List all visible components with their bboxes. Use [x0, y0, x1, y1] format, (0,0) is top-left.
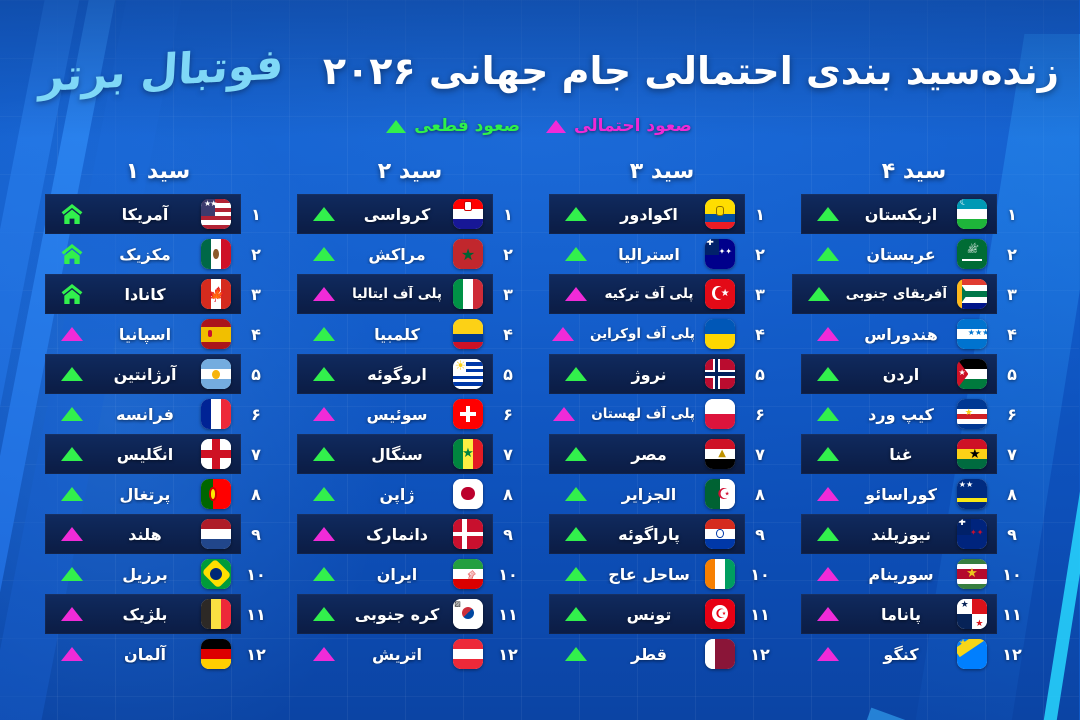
flag-icon: ★ [958, 439, 988, 469]
status-badge [812, 567, 846, 581]
table-row[interactable]: ۵آرژانتین [46, 354, 272, 394]
table-row[interactable]: ۹پاراگوئه [550, 514, 776, 554]
team-band[interactable]: ☪تونس [550, 594, 746, 634]
table-row[interactable]: ۵☀اروگوئه [298, 354, 524, 394]
table-row[interactable]: ۷★غنا [802, 434, 1028, 474]
team-name: اسپانیا [100, 325, 192, 344]
green-triangle-icon [566, 567, 588, 581]
status-badge [308, 527, 342, 541]
flag-icon [454, 399, 484, 429]
status-badge [308, 327, 342, 341]
team-name: تونس [604, 605, 696, 624]
rank-number: ۳ [242, 285, 272, 304]
team-band[interactable]: ★★پاناما [802, 594, 998, 634]
team-name: ازبکستان [856, 205, 948, 224]
flag-icon [958, 279, 988, 309]
team-band[interactable]: پاراگوئه [550, 514, 746, 554]
pot-title: سید ۳ [550, 150, 776, 194]
team-name: کره جنوبی [352, 605, 444, 624]
team-name: کیپ ورد [856, 405, 948, 424]
team-band[interactable]: قطر [550, 634, 746, 674]
team-band[interactable]: مکزیک [46, 234, 242, 274]
table-row[interactable]: ۳پلی آف ایتالیا [298, 274, 524, 314]
table-row[interactable]: ۶فرانسه [46, 394, 272, 434]
table-row[interactable]: ۲مکزیک [46, 234, 272, 274]
team-band[interactable]: ﷺعربستان [802, 234, 998, 274]
pot-column: سید ۴۱☾ازبکستان۲ﷺعربستان۳آفریقای جنوبی۴★… [802, 150, 1028, 720]
team-name: فرانسه [100, 405, 192, 424]
green-triangle-icon [314, 487, 336, 501]
green-triangle-icon [566, 607, 588, 621]
team-band[interactable]: فرانسه [46, 394, 242, 434]
team-band[interactable]: ★سورینام [802, 554, 998, 594]
green-triangle-icon [818, 207, 840, 221]
rank-number: ۸ [746, 485, 776, 504]
team-band[interactable]: ★کیپ ورد [802, 394, 998, 434]
table-row[interactable]: ۹✚✦✦نیوزیلند [802, 514, 1028, 554]
table-row[interactable]: ۱۰★سورینام [802, 554, 1028, 594]
team-name: پرتغال [100, 485, 192, 504]
pink-triangle-icon [62, 647, 84, 661]
flag-icon: ﷺ [958, 239, 988, 269]
team-band[interactable]: ☀اروگوئه [298, 354, 494, 394]
rank-number: ۵ [242, 365, 272, 384]
green-triangle-icon [818, 367, 840, 381]
table-row[interactable]: ۱۲★کنگو [802, 634, 1028, 674]
table-row[interactable]: ۳🍁کانادا [46, 274, 272, 314]
team-band[interactable]: آرژانتین [46, 354, 242, 394]
team-name: انگلیس [100, 445, 192, 464]
team-band[interactable]: کلمبیا [298, 314, 494, 354]
table-row[interactable]: ۵★اردن [802, 354, 1028, 394]
pink-triangle-icon [314, 407, 336, 421]
flag-icon: ☪ [706, 479, 736, 509]
status-badge [560, 447, 594, 461]
team-band[interactable]: هلند [46, 514, 242, 554]
status-badge [560, 647, 594, 661]
team-name: ژاپن [352, 485, 444, 504]
status-badge [560, 287, 594, 301]
table-row[interactable]: ۹هلند [46, 514, 272, 554]
green-triangle-icon [566, 527, 588, 541]
team-name: برزیل [100, 565, 192, 584]
team-name: اکوادور [604, 205, 696, 224]
rank-number: ۱۱ [746, 605, 776, 624]
rank-number: ۴ [242, 325, 272, 344]
flag-icon [454, 199, 484, 229]
rank-number: ۱۰ [746, 565, 776, 584]
team-band[interactable]: نروژ [550, 354, 746, 394]
table-row[interactable]: ۸پرتغال [46, 474, 272, 514]
pot-rows: ۱☾ازبکستان۲ﷺعربستان۳آفریقای جنوبی۴★★★هند… [802, 194, 1028, 674]
team-band[interactable]: کرواسی [298, 194, 494, 234]
status-badge [308, 567, 342, 581]
team-name: پاراگوئه [604, 525, 696, 544]
rank-number: ۳ [998, 285, 1028, 304]
table-row[interactable]: ۶پلی آف لهستان [550, 394, 776, 434]
pot-rows: ۱اکوادور۲✚✦✦استرالیا۳★پلی آف ترکیه۴پلی آ… [550, 194, 776, 674]
table-row[interactable]: ۳★پلی آف ترکیه [550, 274, 776, 314]
table-row[interactable]: ۶سوئیس [298, 394, 524, 434]
table-row[interactable]: ۹دانمارک [298, 514, 524, 554]
team-band[interactable]: ساحل عاج [550, 554, 746, 594]
legend-label-qualified: صعود قطعی [415, 116, 521, 136]
pink-triangle-icon [818, 647, 840, 661]
flag-icon [202, 479, 232, 509]
pink-triangle-icon [314, 287, 336, 301]
status-badge [803, 287, 837, 301]
status-badge [56, 607, 90, 621]
team-band[interactable]: پلی آف ایتالیا [298, 274, 494, 314]
team-band[interactable]: ▲مصر [550, 434, 746, 474]
rank-number: ۱۰ [242, 565, 272, 584]
flag-icon: ★ [958, 359, 988, 389]
table-row[interactable]: ۱۰ساحل عاج [550, 554, 776, 594]
rank-number: ۵ [746, 365, 776, 384]
green-triangle-icon [62, 407, 84, 421]
team-name: کانادا [100, 285, 192, 304]
pink-triangle-icon [818, 487, 840, 501]
team-name: اروگوئه [352, 365, 444, 384]
team-band[interactable]: ★مراکش [298, 234, 494, 274]
status-badge [812, 327, 846, 341]
home-icon [60, 202, 86, 226]
green-triangle-icon [62, 367, 84, 381]
rank-number: ۹ [998, 525, 1028, 544]
rank-number: ۱۱ [494, 605, 524, 624]
green-triangle-icon [566, 647, 588, 661]
status-badge [308, 487, 342, 501]
table-row[interactable]: ۸☪الجزایر [550, 474, 776, 514]
home-icon [60, 242, 86, 266]
flag-icon: ★★ [958, 479, 988, 509]
table-row[interactable]: ۲ﷺعربستان [802, 234, 1028, 274]
team-band[interactable]: ★★★هندوراس [802, 314, 998, 354]
rank-number: ۱ [746, 205, 776, 224]
rank-number: ۱ [494, 205, 524, 224]
green-triangle-icon [314, 367, 336, 381]
flag-icon [706, 519, 736, 549]
team-name: هندوراس [856, 325, 948, 344]
pot-column: سید ۲۱کرواسی۲★مراکش۳پلی آف ایتالیا۴کلمبی… [298, 150, 524, 720]
team-name: پلی آف ایتالیا [352, 286, 444, 302]
team-name: کوراسائو [856, 485, 948, 504]
team-band[interactable]: ۩ایران [298, 554, 494, 594]
team-band[interactable]: برزیل [46, 554, 242, 594]
status-badge [547, 327, 581, 341]
rank-number: ۲ [494, 245, 524, 264]
status-badge [56, 327, 90, 341]
table-row[interactable]: ۱۱بلژیک [46, 594, 272, 634]
rank-number: ۸ [998, 485, 1028, 504]
pots-container: سید ۴۱☾ازبکستان۲ﷺعربستان۳آفریقای جنوبی۴★… [0, 150, 1080, 720]
pink-triangle-icon [818, 607, 840, 621]
status-badge [812, 487, 846, 501]
flag-icon [202, 319, 232, 349]
team-name: آلمان [100, 645, 192, 664]
flag-icon [454, 519, 484, 549]
table-row[interactable]: ۴اسپانیا [46, 314, 272, 354]
flag-icon [706, 319, 736, 349]
table-row[interactable]: ۴کلمبیا [298, 314, 524, 354]
team-name: پلی آف لهستان [592, 406, 696, 422]
table-row[interactable]: ۱۲آلمان [46, 634, 272, 674]
status-badge [56, 447, 90, 461]
table-row[interactable]: ۱☾ازبکستان [802, 194, 1028, 234]
team-band[interactable]: بلژیک [46, 594, 242, 634]
green-triangle-icon [314, 327, 336, 341]
rank-number: ۱۲ [494, 645, 524, 664]
live-badge: زنده [982, 50, 1060, 93]
team-name: کرواسی [352, 205, 444, 224]
team-name: دانمارک [352, 525, 444, 544]
status-badge [308, 607, 342, 621]
rank-number: ۹ [242, 525, 272, 544]
table-row[interactable]: ۶★کیپ ورد [802, 394, 1028, 434]
rank-number: ۷ [746, 445, 776, 464]
team-band[interactable]: 🍁کانادا [46, 274, 242, 314]
rank-number: ۶ [242, 405, 272, 424]
team-name: نیوزیلند [856, 525, 948, 544]
table-row[interactable]: ۳آفریقای جنوبی [802, 274, 1028, 314]
rank-number: ۸ [242, 485, 272, 504]
pink-triangle-icon [547, 120, 567, 133]
team-name: بلژیک [100, 605, 192, 624]
rank-number: ۵ [494, 365, 524, 384]
pot-rows: ۱★★آمریکا۲مکزیک۳🍁کانادا۴اسپانیا۵آرژانتین… [46, 194, 272, 674]
table-row[interactable]: ۵نروژ [550, 354, 776, 394]
flag-icon [706, 199, 736, 229]
green-triangle-icon [566, 447, 588, 461]
rank-number: ۱۱ [242, 605, 272, 624]
status-badge [56, 242, 90, 266]
team-name: الجزایر [604, 485, 696, 504]
status-badge [812, 607, 846, 621]
status-badge [308, 207, 342, 221]
green-triangle-icon [818, 527, 840, 541]
flag-icon [706, 559, 736, 589]
team-band[interactable]: اتریش [298, 634, 494, 674]
table-row[interactable]: ۴پلی آف اوکراین [550, 314, 776, 354]
team-name: ایران [352, 565, 444, 584]
table-row[interactable]: ۲✚✦✦استرالیا [550, 234, 776, 274]
pink-triangle-icon [62, 527, 84, 541]
flag-icon: ✚✦✦ [958, 519, 988, 549]
rank-number: ۲ [998, 245, 1028, 264]
team-name: قطر [604, 645, 696, 664]
team-band[interactable]: انگلیس [46, 434, 242, 474]
table-row[interactable]: ۱۰برزیل [46, 554, 272, 594]
team-name: کلمبیا [352, 325, 444, 344]
flag-icon [454, 639, 484, 669]
status-badge [812, 447, 846, 461]
status-badge [56, 202, 90, 226]
team-name: مکزیک [100, 245, 192, 264]
table-row[interactable]: ۱اکوادور [550, 194, 776, 234]
team-band[interactable]: پرتغال [46, 474, 242, 514]
green-triangle-icon [314, 607, 336, 621]
rank-number: ۳ [746, 285, 776, 304]
flag-icon [454, 479, 484, 509]
pot-column: سید ۳۱اکوادور۲✚✦✦استرالیا۳★پلی آف ترکیه۴… [550, 150, 776, 720]
team-band[interactable]: ★کنگو [802, 634, 998, 674]
team-band[interactable]: ژاپن [298, 474, 494, 514]
table-row[interactable]: ۷انگلیس [46, 434, 272, 474]
team-band[interactable]: اکوادور [550, 194, 746, 234]
rank-number: ۹ [746, 525, 776, 544]
header-row: زنده سید بندی احتمالی جام جهانی ۲۰۲۶ فوت… [20, 34, 1060, 108]
rank-number: ۵ [998, 365, 1028, 384]
flag-icon [706, 359, 736, 389]
flag-icon: 🍁 [202, 279, 232, 309]
rank-number: ۷ [998, 445, 1028, 464]
flag-icon [202, 559, 232, 589]
table-row[interactable]: ۴★★★هندوراس [802, 314, 1028, 354]
pink-triangle-icon [314, 527, 336, 541]
table-row[interactable]: ۱۱☪تونس [550, 594, 776, 634]
status-badge [560, 207, 594, 221]
status-badge [560, 487, 594, 501]
green-triangle-icon [818, 447, 840, 461]
team-name: ساحل عاج [604, 565, 696, 584]
team-band[interactable]: ★★آمریکا [46, 194, 242, 234]
team-band[interactable]: ★★کوراسائو [802, 474, 998, 514]
team-band[interactable]: ★پلی آف ترکیه [550, 274, 746, 314]
rank-number: ۶ [494, 405, 524, 424]
team-name: آمریکا [100, 205, 192, 224]
flag-icon [454, 319, 484, 349]
flag-icon [202, 359, 232, 389]
team-band[interactable]: ☪الجزایر [550, 474, 746, 514]
team-name: آرژانتین [100, 365, 192, 384]
flag-icon [202, 399, 232, 429]
table-row[interactable]: ۲★مراکش [298, 234, 524, 274]
status-badge [308, 367, 342, 381]
team-name: استرالیا [604, 245, 696, 264]
team-band[interactable]: ★غنا [802, 434, 998, 474]
flag-icon [202, 519, 232, 549]
flag-icon: ★★ [202, 199, 232, 229]
pink-triangle-icon [62, 327, 84, 341]
rank-number: ۹ [494, 525, 524, 544]
table-row[interactable]: ۱۰۩ایران [298, 554, 524, 594]
rank-number: ۱ [998, 205, 1028, 224]
green-triangle-icon [818, 247, 840, 261]
status-badge [308, 647, 342, 661]
rank-number: ۲ [746, 245, 776, 264]
flag-icon [706, 399, 736, 429]
rank-number: ۸ [494, 485, 524, 504]
pink-triangle-icon [314, 647, 336, 661]
team-band[interactable]: اسپانیا [46, 314, 242, 354]
table-row[interactable]: ۱۲اتریش [298, 634, 524, 674]
rank-number: ۷ [494, 445, 524, 464]
table-row[interactable]: ۷★سنگال [298, 434, 524, 474]
table-row[interactable]: ۱۱▨کره جنوبی [298, 594, 524, 634]
green-triangle-icon [314, 447, 336, 461]
table-row[interactable]: ۱کرواسی [298, 194, 524, 234]
team-band[interactable]: ✚✦✦نیوزیلند [802, 514, 998, 554]
table-row[interactable]: ۷▲مصر [550, 434, 776, 474]
green-triangle-icon [566, 487, 588, 501]
team-name: پاناما [856, 605, 948, 624]
green-triangle-icon [387, 120, 407, 133]
rank-number: ۴ [746, 325, 776, 344]
status-badge [560, 527, 594, 541]
team-band[interactable]: ▨کره جنوبی [298, 594, 494, 634]
status-badge [308, 247, 342, 261]
green-triangle-icon [566, 247, 588, 261]
team-name: سنگال [352, 445, 444, 464]
table-row[interactable]: ۸ژاپن [298, 474, 524, 514]
status-badge [812, 207, 846, 221]
flag-icon: ۩ [454, 559, 484, 589]
status-badge [56, 282, 90, 306]
team-band[interactable]: ✚✦✦استرالیا [550, 234, 746, 274]
flag-icon [706, 639, 736, 669]
status-badge [308, 407, 342, 421]
status-badge [812, 247, 846, 261]
header: زنده سید بندی احتمالی جام جهانی ۲۰۲۶ فوت… [0, 0, 1080, 150]
team-band[interactable]: سوئیس [298, 394, 494, 434]
flag-icon: ★ [958, 639, 988, 669]
legend-item-qualified: صعود قطعی [387, 116, 521, 136]
pink-triangle-icon [554, 407, 576, 421]
table-row[interactable]: ۸★★کوراسائو [802, 474, 1028, 514]
team-name: آفریقای جنوبی [847, 286, 948, 302]
flag-icon [202, 239, 232, 269]
status-badge [308, 447, 342, 461]
flag-icon [202, 439, 232, 469]
status-badge [56, 647, 90, 661]
green-triangle-icon [314, 567, 336, 581]
team-name: سوئیس [352, 405, 444, 424]
team-band[interactable]: پلی آف لهستان [538, 394, 746, 434]
team-name: نروژ [604, 365, 696, 384]
green-triangle-icon [62, 567, 84, 581]
team-band[interactable]: ★اردن [802, 354, 998, 394]
green-triangle-icon [566, 367, 588, 381]
green-triangle-icon [818, 407, 840, 421]
team-band[interactable]: ★سنگال [298, 434, 494, 474]
team-band[interactable]: آلمان [46, 634, 242, 674]
green-triangle-icon [314, 207, 336, 221]
status-badge [56, 527, 90, 541]
pot-column: سید ۱۱★★آمریکا۲مکزیک۳🍁کانادا۴اسپانیا۵آرژ… [46, 150, 272, 720]
team-name: پلی آف ترکیه [604, 286, 696, 302]
team-name: اردن [856, 365, 948, 384]
pink-triangle-icon [553, 327, 575, 341]
table-row[interactable]: ۱★★آمریکا [46, 194, 272, 234]
pot-title: سید ۲ [298, 150, 524, 194]
legend-item-probable: صعود احتمالی [547, 116, 693, 136]
team-band[interactable]: دانمارک [298, 514, 494, 554]
team-band[interactable]: پلی آف اوکراین [537, 314, 746, 354]
team-name: پلی آف اوکراین [591, 326, 696, 342]
legend: صعود احتمالی صعود قطعی [0, 116, 1080, 136]
rank-number: ۴ [998, 325, 1028, 344]
flag-icon: ★ [706, 279, 736, 309]
rank-number: ۲ [242, 245, 272, 264]
table-row[interactable]: ۱۱★★پاناما [802, 594, 1028, 634]
team-band[interactable]: ☾ازبکستان [802, 194, 998, 234]
pot-rows: ۱کرواسی۲★مراکش۳پلی آف ایتالیا۴کلمبیا۵☀ار… [298, 194, 524, 674]
pot-title: سید ۱ [46, 150, 272, 194]
team-band[interactable]: آفریقای جنوبی [793, 274, 998, 314]
team-name: هلند [100, 525, 192, 544]
status-badge [560, 607, 594, 621]
table-row[interactable]: ۱۲قطر [550, 634, 776, 674]
